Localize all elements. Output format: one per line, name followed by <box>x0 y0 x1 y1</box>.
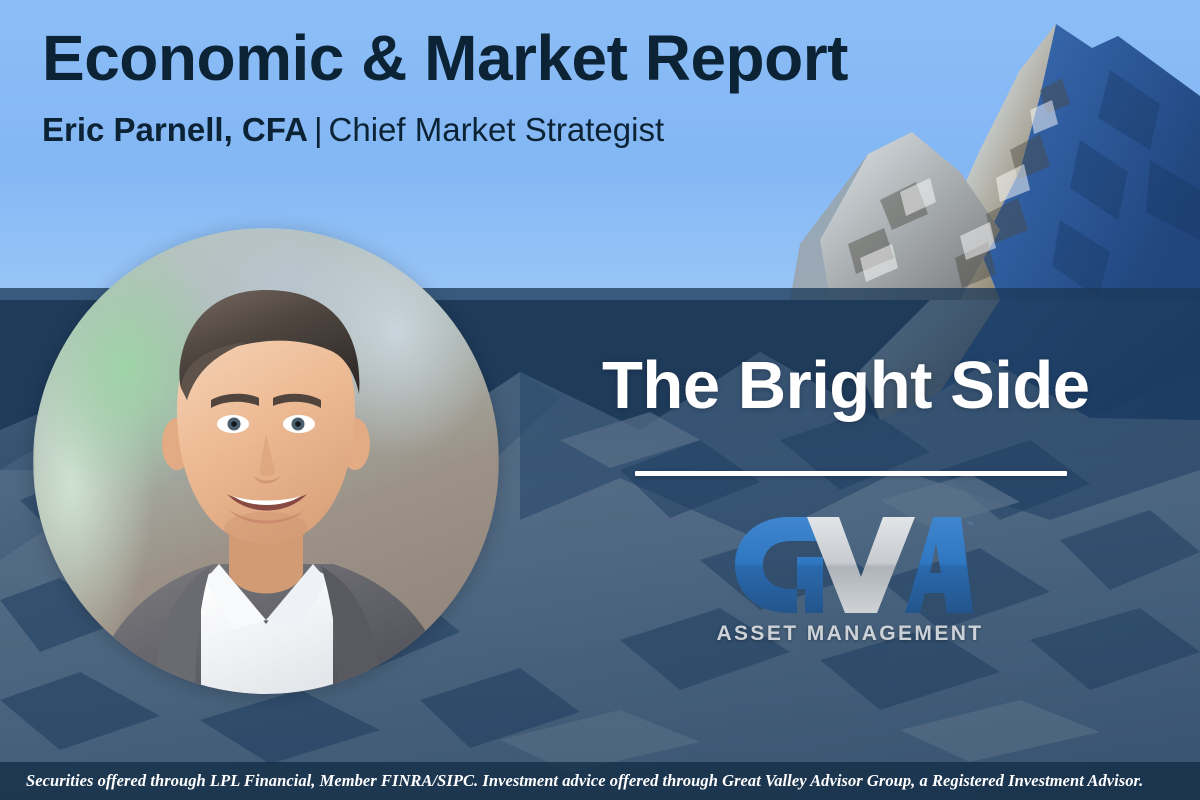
author-role: Chief Market Strategist <box>329 111 665 148</box>
gva-logo: ™ ASSET MANAGEMENT <box>710 515 990 646</box>
footer-disclaimer-bar: Securities offered through LPL Financial… <box>0 762 1200 800</box>
avatar <box>33 228 499 694</box>
header: Economic & Market Report Eric Parnell, C… <box>42 26 848 148</box>
hero-divider <box>635 471 1067 476</box>
hero-headline: The Bright Side <box>602 352 1072 419</box>
page-title: Economic & Market Report <box>42 26 848 90</box>
gva-logo-mark: ™ <box>727 515 973 615</box>
disclaimer-text: Securities offered through LPL Financial… <box>0 771 1143 791</box>
portrait-illustration <box>33 228 499 694</box>
trademark-mark: ™ <box>966 520 973 529</box>
author-name: Eric Parnell, CFA <box>42 111 308 148</box>
byline: Eric Parnell, CFA|Chief Market Strategis… <box>42 112 848 148</box>
report-banner: Economic & Market Report Eric Parnell, C… <box>0 0 1200 800</box>
logo-subtitle: ASSET MANAGEMENT <box>710 622 990 646</box>
hero-block: The Bright Side <box>602 352 1072 476</box>
byline-separator: | <box>308 111 329 148</box>
